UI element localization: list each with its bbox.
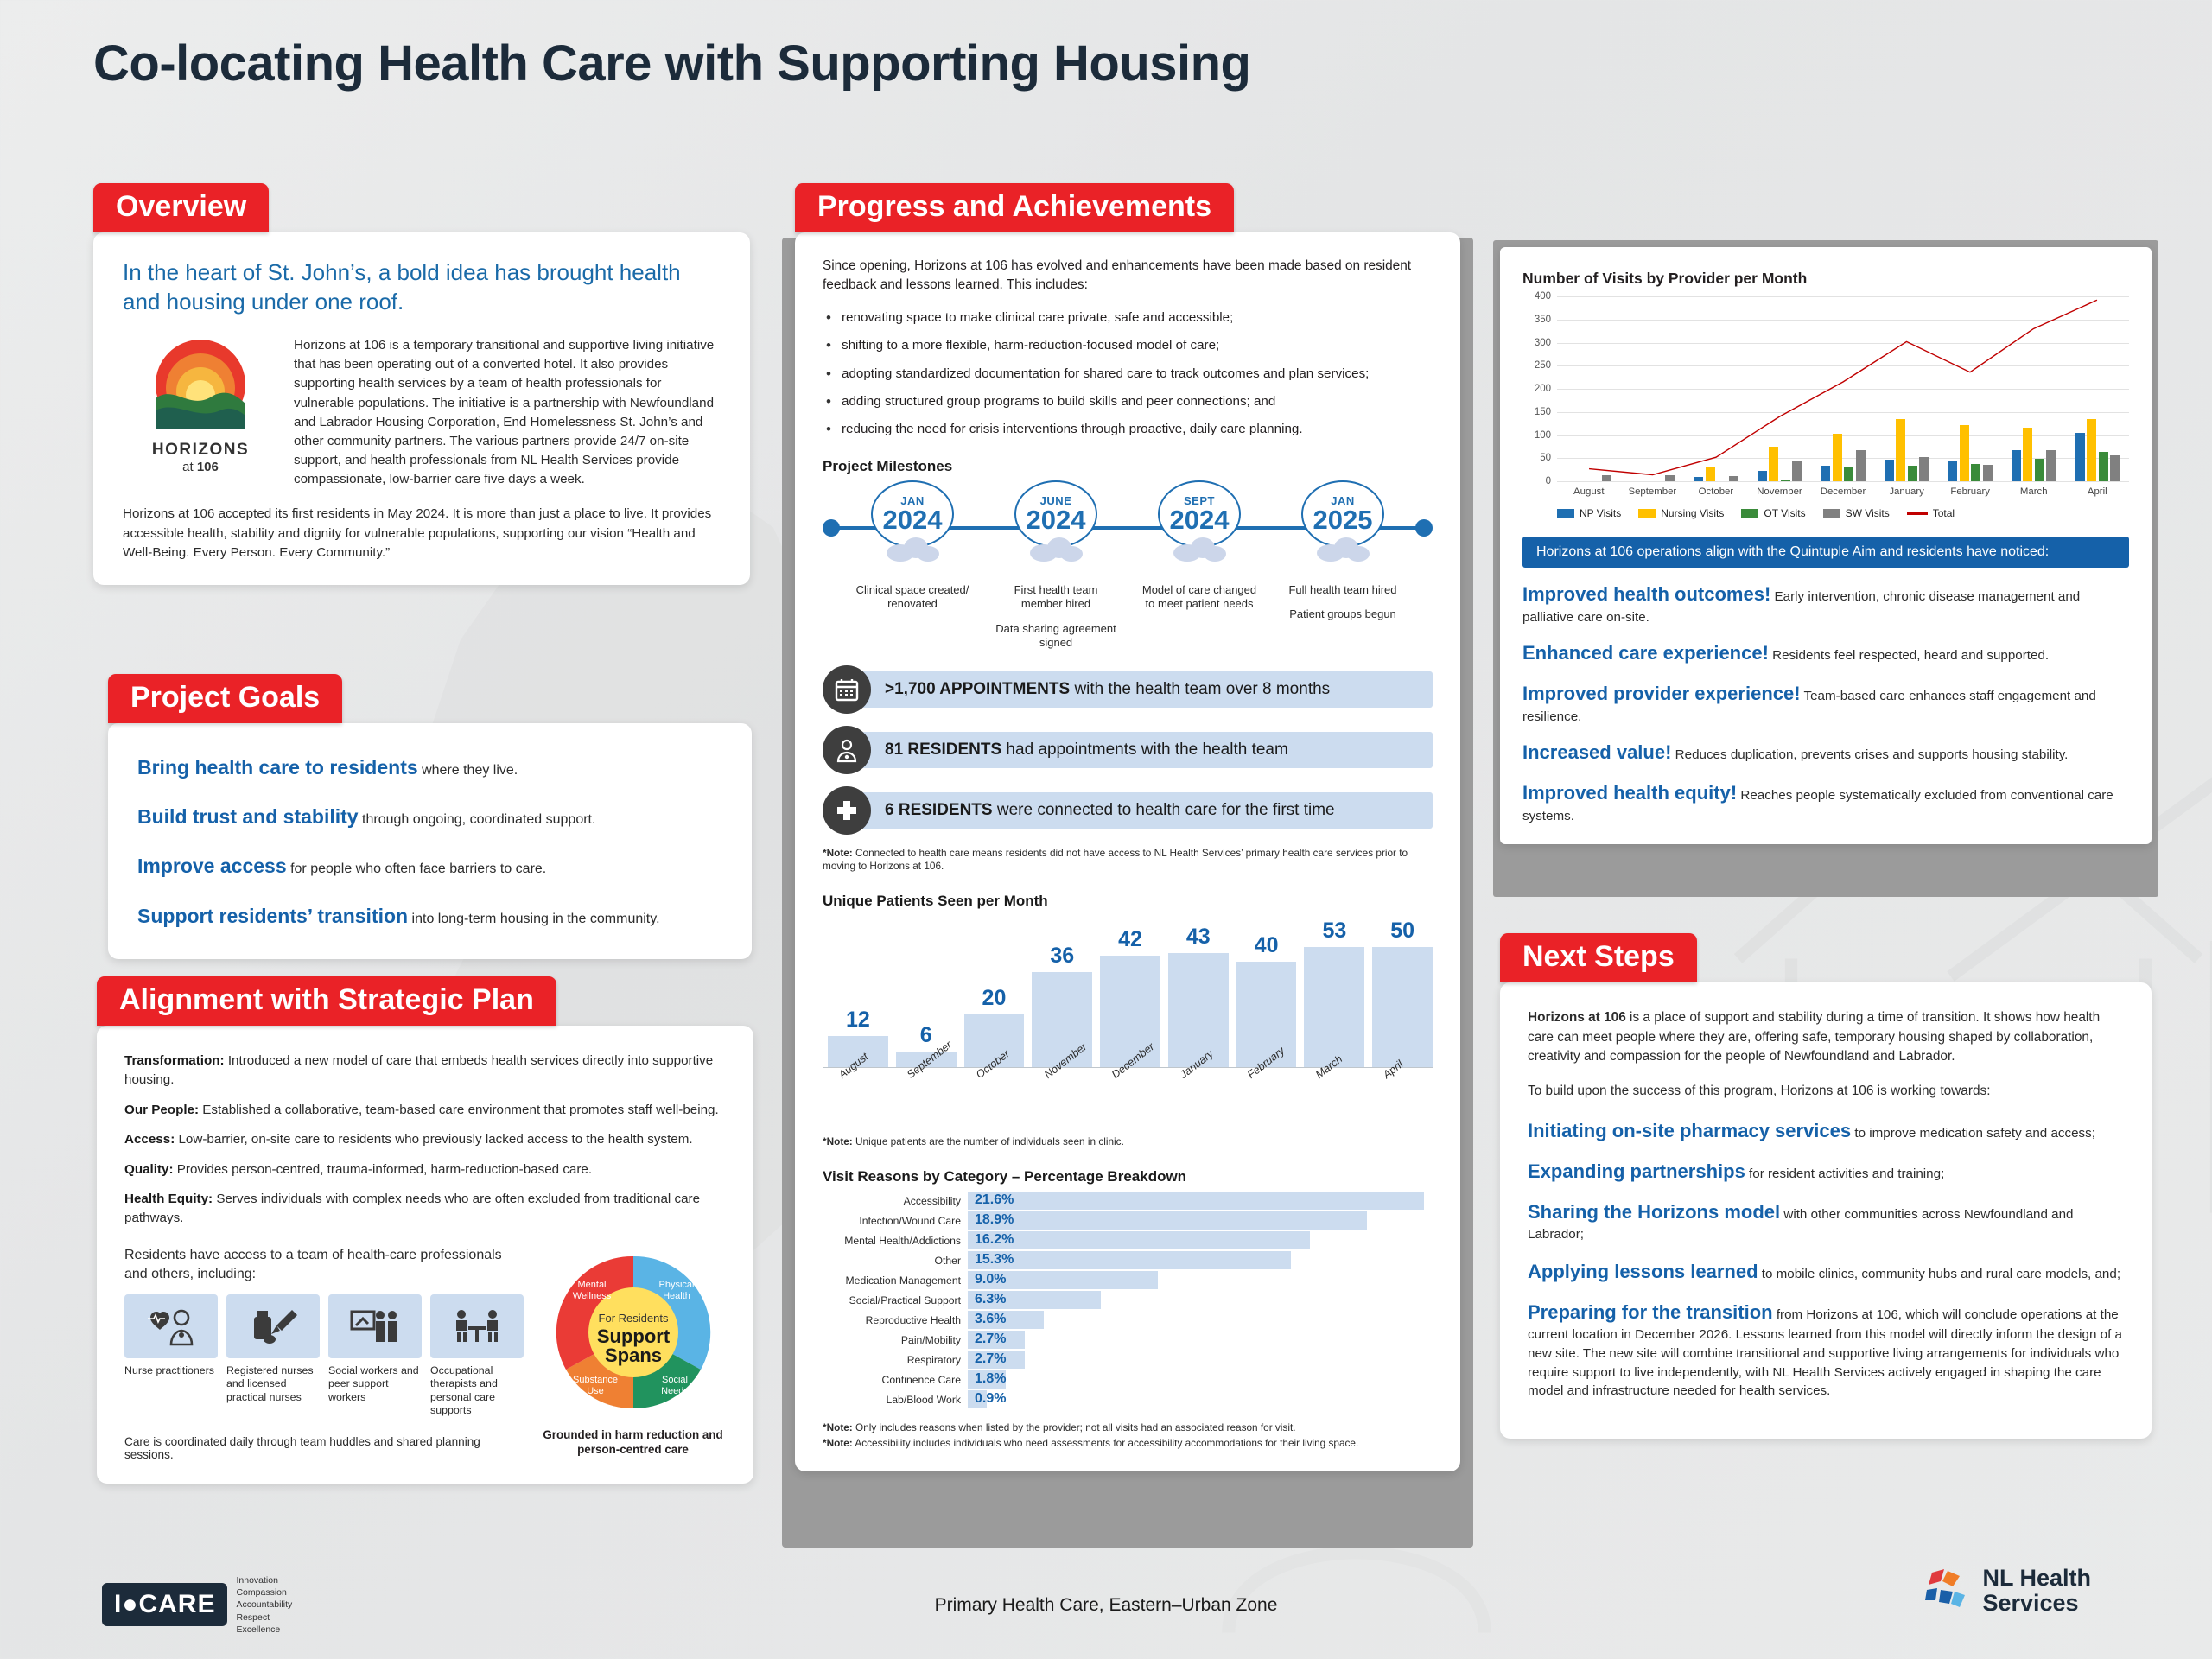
bar-value: 42 [1118,927,1142,952]
total-line-series [1557,296,2129,481]
stat-row: 6 RESIDENTS were connected to health car… [823,786,1433,835]
legend-label: OT Visits [1764,507,1805,519]
progress-intro: Since opening, Horizons at 106 has evolv… [823,257,1433,295]
stat-bold: 6 RESIDENTS [885,801,993,819]
donut-center-big-2: Spans [604,1344,661,1366]
section-visits-chart: Number of Visits by Provider per Month 0… [1500,247,2152,844]
cloud-icon [1312,536,1374,562]
section-tab-alignment: Alignment with Strategic Plan [97,976,556,1026]
bar-value: 50 [1390,918,1414,944]
alignment-label: Quality: [124,1162,174,1177]
progress-bullet: adopting standardized documentation for … [823,365,1433,383]
donut-seg-label: Social [662,1375,688,1385]
vr-row: Social/Practical Support6.3% [823,1290,1433,1310]
project-milestones-timeline: JAN 2024 Clinical space created/ renovat… [823,480,1433,653]
unique-patients-x-labels: August September October November Decemb… [823,1068,1433,1123]
goal-bold: Build trust and stability [137,805,359,828]
milestones-title: Project Milestones [823,458,1433,475]
donut-seg-label: Use [587,1386,604,1396]
vr-value: 3.6% [975,1312,1006,1327]
milestone-year: 2024 [1170,507,1230,532]
next-steps-p1: Horizons at 106 is a place of support an… [1528,1008,2124,1066]
y-tick: 100 [1535,430,1551,441]
therapy-table-icon [451,1306,503,1346]
legend-label: SW Visits [1846,507,1890,519]
alignment-label: Access: [124,1132,175,1147]
stat-rest: were connected to health care for the fi… [993,801,1335,819]
next-step-item: Initiating on-site pharmacy services to … [1528,1117,2124,1144]
alignment-item: Access: Low-barrier, on-site care to res… [124,1130,726,1149]
project-goals-list: Bring health care to residents where the… [108,723,752,958]
overview-footer: Horizons at 106 accepted its first resid… [123,505,721,563]
goal-item: Support residents’ transition into long-… [137,903,722,930]
milestone-year: 2025 [1313,507,1373,532]
vr-value: 16.2% [975,1232,1014,1248]
vr-value: 18.9% [975,1212,1014,1228]
legend-label: NP Visits [1580,507,1621,519]
alignment-item: Our People: Established a collaborative,… [124,1101,726,1120]
section-overview: Overview In the heart of St. John’s, a b… [93,183,750,585]
visit-reasons-chart: Accessibility21.6% Infection/Wound Care1… [823,1191,1433,1409]
overview-lead: In the heart of St. John’s, a bold idea … [123,258,721,317]
team-caption: Social workers and peer support workers [328,1364,422,1405]
quintuple-aim-banner: Horizons at 106 operations align with th… [1522,537,2129,568]
horizons-logo: HORIZONS at 106 [123,336,278,474]
goal-item: Improve access for people who often face… [137,853,722,880]
medication-syringe-icon [247,1306,299,1346]
y-tick: 150 [1535,407,1551,417]
y-tick: 300 [1535,338,1551,348]
donut-seg-label: Wellness [572,1291,611,1301]
x-tick: April [2066,486,2130,497]
visit-note-2: *Note: Accessibility includes individual… [823,1437,1433,1451]
bar-value: 43 [1186,925,1211,950]
nlhs-line2: Services [1982,1591,2091,1616]
calendar-icon [823,665,871,714]
team-caption: Nurse practitioners [124,1364,218,1378]
visits-chart-legend: NP Visits Nursing Visits OT Visits SW Vi… [1557,507,2129,519]
team-member-card: Social workers and peer support workers [328,1294,422,1418]
vr-label: Lab/Blood Work [823,1394,968,1406]
section-next-steps: Next Steps Horizons at 106 is a place of… [1500,933,2152,1439]
y-tick: 200 [1535,384,1551,394]
legend-swatch [1557,509,1574,518]
vr-value: 1.8% [975,1371,1006,1387]
team-caption: Registered nurses and licensed practical… [226,1364,320,1405]
legend-swatch [1823,509,1840,518]
bar-value: 6 [920,1023,932,1048]
section-project-goals: Project Goals Bring health care to resid… [108,674,752,959]
vr-row: Pain/Mobility2.7% [823,1330,1433,1350]
cloud-icon [881,536,944,562]
milestone-desc2: Data sharing agreement signed [995,622,1116,651]
stat-rest: had appointments with the health team [1001,741,1288,759]
alignment-item: Quality: Provides person-centred, trauma… [124,1160,726,1179]
donut-caption: Grounded in harm reduction and person-ce… [540,1428,726,1458]
unique-patients-title: Unique Patients Seen per Month [823,893,1433,910]
x-tick: December [1811,486,1875,497]
medical-cross-icon [823,786,871,835]
donut-seg-label: Needs [661,1386,689,1396]
legend-item: SW Visits [1823,507,1890,519]
vr-row: Infection/Wound Care18.9% [823,1211,1433,1230]
vr-row: Lab/Blood Work0.9% [823,1389,1433,1409]
legend-item: NP Visits [1557,507,1621,519]
progress-bullet: shifting to a more flexible, harm-reduct… [823,336,1433,354]
bar-value: 12 [846,1007,870,1033]
x-tick: March [2002,486,2066,497]
quintuple-item: Improved health equity! Reaches people s… [1522,780,2129,825]
y-tick: 250 [1535,360,1551,371]
goal-bold: Support residents’ transition [137,905,408,927]
milestone-desc: First health team member hired [995,583,1116,612]
alignment-text: Low-barrier, on-site care to residents w… [175,1132,692,1147]
footer-zone-label: Primary Health Care, Eastern–Urban Zone [0,1595,2212,1616]
goal-rest: through ongoing, coordinated support. [359,812,596,827]
vr-value: 2.7% [975,1351,1006,1367]
vr-label: Social/Practical Support [823,1294,968,1306]
vr-value: 15.3% [975,1252,1014,1268]
stat-row: 81 RESIDENTS had appointments with the h… [823,726,1433,774]
progress-bullet: reducing the need for crisis interventio… [823,420,1433,438]
milestone-year: 2024 [1027,507,1086,532]
vr-value: 21.6% [975,1192,1014,1208]
donut-center-small: For Residents [598,1312,668,1325]
vr-label: Mental Health/Addictions [823,1235,968,1247]
milestone-desc2: Patient groups begun [1282,607,1403,622]
x-tick: August [1557,486,1621,497]
vr-value: 6.3% [975,1292,1006,1307]
visit-reasons-title: Visit Reasons by Category – Percentage B… [823,1168,1433,1185]
x-tick: October [1684,486,1748,497]
progress-bullet: adding structured group programs to buil… [823,392,1433,410]
milestone-year: 2024 [883,507,943,532]
goal-rest: for people who often face barriers to ca… [287,861,547,876]
section-tab-next-steps: Next Steps [1500,933,1697,982]
legend-item: Total [1907,507,1955,519]
stat-rest: with the health team over 8 months [1070,680,1330,698]
legend-label: Total [1933,507,1955,519]
visits-chart-x-labels: August September October November Decemb… [1557,486,2129,497]
vr-value: 0.9% [975,1391,1006,1407]
milestone-desc: Clinical space created/ renovated [852,583,973,612]
donut-seg-label: Substance [573,1375,618,1385]
x-tick: November [1748,486,1812,497]
legend-item: Nursing Visits [1638,507,1724,519]
alignment-item: Transformation: Introduced a new model o… [124,1052,726,1089]
vr-label: Accessibility [823,1195,968,1207]
legend-line [1907,512,1928,515]
stat-bold: >1,700 APPOINTMENTS [885,680,1070,698]
milestone-item: SEPT 2024 Model of care changed to meet … [1139,480,1260,652]
vr-row: Mental Health/Addictions16.2% [823,1230,1433,1250]
team-member-card: Registered nurses and licensed practical… [226,1294,320,1418]
social-worker-icon [349,1306,401,1346]
vr-label: Pain/Mobility [823,1334,968,1346]
bar-value: 20 [982,986,1007,1011]
page-title: Co-locating Health Care with Supporting … [93,35,1250,92]
vr-row: Medication Management9.0% [823,1270,1433,1290]
nurse-icon [823,726,871,774]
progress-bullets: renovating space to make clinical care p… [823,308,1433,438]
nl-health-services-logo: NL HealthServices [1920,1566,2091,1616]
section-alignment: Alignment with Strategic Plan Transforma… [97,976,753,1484]
vr-value: 2.7% [975,1332,1006,1347]
quintuple-item: Improved provider experience! Team-based… [1522,681,2129,726]
y-tick: 350 [1535,315,1551,325]
visit-note-1: *Note: Only includes reasons when listed… [823,1421,1433,1435]
team-member-card: Nurse practitioners [124,1294,218,1418]
vr-label: Medication Management [823,1274,968,1287]
horizons-at: at [182,460,194,474]
bar-value: 40 [1255,933,1279,958]
y-tick: 400 [1535,291,1551,302]
vr-row: Respiratory2.7% [823,1350,1433,1370]
goal-rest: where they live. [418,763,518,778]
y-tick: 50 [1540,453,1551,463]
legend-item: OT Visits [1741,507,1805,519]
milestone-item: JUNE 2024 First health team member hired… [995,480,1116,652]
goal-item: Build trust and stability through ongoin… [137,804,722,830]
vr-row: Accessibility21.6% [823,1191,1433,1211]
vr-row: Reproductive Health3.6% [823,1310,1433,1330]
nlhs-mark-icon [1920,1566,1970,1616]
milestone-item: JAN 2024 Clinical space created/ renovat… [852,480,973,652]
donut-seg-label: Physical [658,1280,694,1290]
alignment-label: Our People: [124,1103,199,1117]
stat-bold: 81 RESIDENTS [885,741,1001,759]
milestone-desc: Full health team hired [1282,583,1403,598]
quintuple-item: Increased value! Reduces duplication, pr… [1522,740,2129,766]
unique-patients-chart: 12 6 20 36 42 43 40 53 50 [823,918,1433,1067]
x-tick: February [1938,486,2002,497]
team-note: Care is coordinated daily through team h… [124,1435,528,1461]
horizons-number: 106 [197,460,219,474]
next-step-item: Expanding partnerships for resident acti… [1528,1158,2124,1185]
alignment-text: Provides person-centred, trauma-informed… [174,1162,593,1177]
legend-swatch [1741,509,1758,518]
quintuple-item: Improved health outcomes! Early interven… [1522,582,2129,626]
goal-bold: Improve access [137,855,287,877]
cloud-icon [1168,536,1230,562]
patients-note: *Note: Unique patients are the number of… [823,1135,1433,1149]
vr-label: Infection/Wound Care [823,1215,968,1227]
x-tick: September [1621,486,1685,497]
goal-rest: into long-term housing in the community. [408,912,659,926]
bar-value: 53 [1322,918,1346,944]
horizons-wordmark: HORIZONS [123,441,278,460]
milestone-item: JAN 2025 Full health team hired Patient … [1282,480,1403,652]
goal-bold: Bring health care to residents [137,756,418,779]
vr-row: Other15.3% [823,1250,1433,1270]
section-progress: Progress and Achievements Since opening,… [795,183,1460,1471]
legend-label: Nursing Visits [1661,507,1724,519]
vr-row: Continence Care1.8% [823,1370,1433,1389]
quintuple-item: Enhanced care experience! Residents feel… [1522,640,2129,667]
next-steps-p2: To build upon the success of this progra… [1528,1082,2124,1101]
vr-value: 9.0% [975,1272,1006,1287]
vr-label: Continence Care [823,1374,968,1386]
y-tick: 0 [1546,476,1551,486]
bar-value: 36 [1050,944,1074,969]
next-step-item: Sharing the Horizons model with other co… [1528,1198,2124,1244]
next-step-item: Applying lessons learned to mobile clini… [1528,1258,2124,1285]
stats-note: *Note: Connected to health care means re… [823,847,1433,874]
next-step-item: Preparing for the transition from Horizo… [1528,1299,2124,1401]
alignment-item: Health Equity: Serves individuals with c… [124,1190,726,1227]
team-member-card: Occupational therapists and personal car… [430,1294,524,1418]
progress-bullet: renovating space to make clinical care p… [823,308,1433,327]
donut-seg-label: Health [663,1291,690,1301]
visits-chart-title: Number of Visits by Provider per Month [1522,270,2129,288]
section-tab-project-goals: Project Goals [108,674,342,723]
section-tab-overview: Overview [93,183,269,232]
alignment-label: Health Equity: [124,1192,213,1206]
vr-label: Reproductive Health [823,1314,968,1326]
overview-body: Horizons at 106 is a temporary transitio… [294,336,721,490]
goal-item: Bring health care to residents where the… [137,754,722,781]
alignment-label: Transformation: [124,1053,225,1068]
stat-row: >1,700 APPOINTMENTS with the health team… [823,665,1433,714]
x-tick: January [1875,486,1939,497]
cloud-icon [1025,536,1087,562]
team-intro: Residents have access to a team of healt… [124,1246,528,1283]
vr-label: Other [823,1255,968,1267]
section-tab-progress: Progress and Achievements [795,183,1234,232]
legend-swatch [1638,509,1656,518]
nurse-heart-icon [145,1306,197,1346]
milestone-desc: Model of care changed to meet patient ne… [1139,583,1260,612]
visits-chart-plot: 0 50 100 150 200 250 300 350 400 [1557,296,2129,482]
support-spans-donut: For Residents Support Spans Physical Hea… [540,1246,726,1458]
vr-label: Respiratory [823,1354,968,1366]
donut-seg-label: Mental [577,1280,606,1290]
nlhs-line1: NL Health [1982,1566,2091,1591]
team-caption: Occupational therapists and personal car… [430,1364,524,1418]
alignment-text: Established a collaborative, team-based … [199,1103,719,1117]
horizons-sunset-icon [136,336,265,433]
